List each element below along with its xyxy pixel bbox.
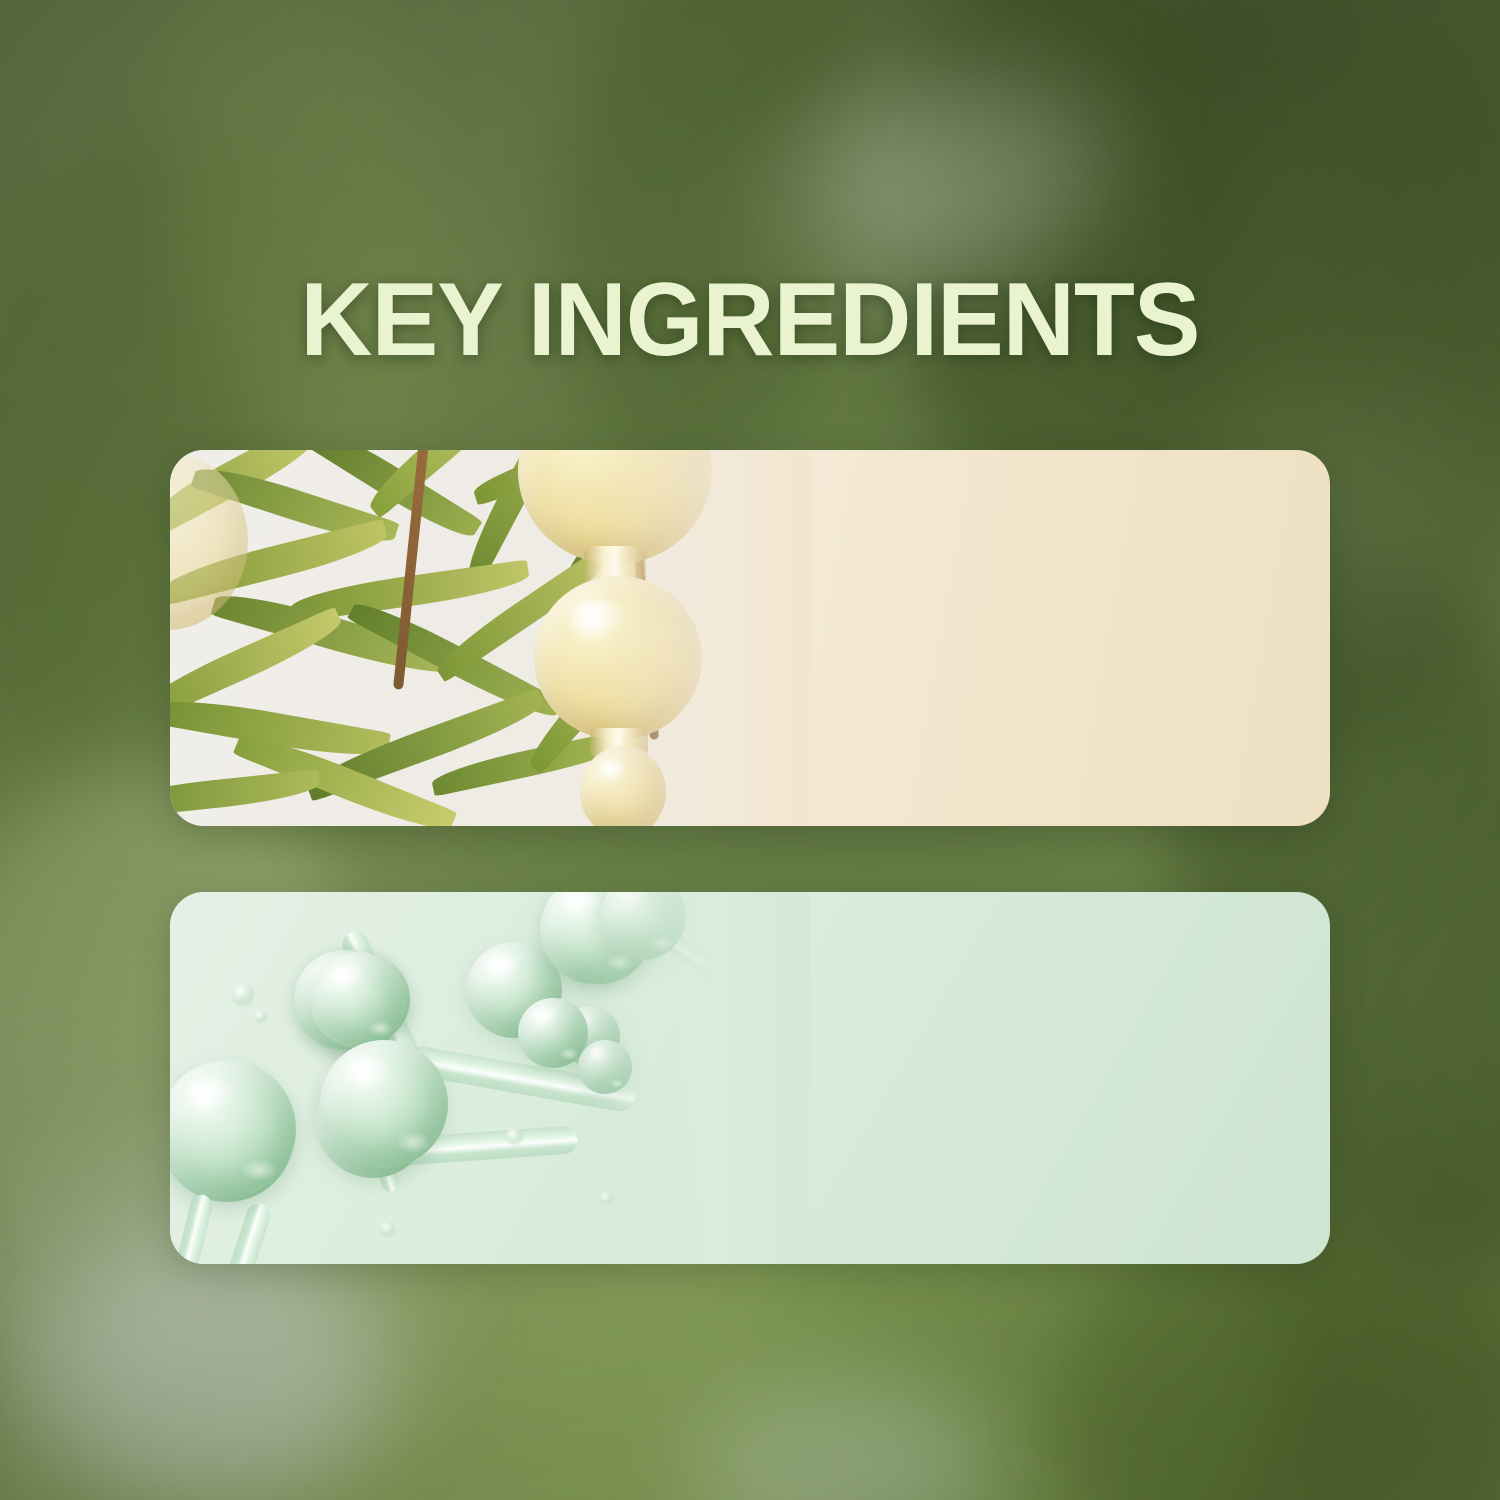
tea-tree-artwork	[170, 450, 810, 826]
molecule-sphere-main-lower-right	[320, 1040, 448, 1168]
molecule-bond	[204, 1200, 273, 1264]
molecule-micro-bubble	[380, 1222, 395, 1237]
ingredient-card-tea-tree: Tea Tree Leaf Extract Calms sensitive & …	[170, 450, 1330, 826]
ingredient-card-acids: AHA BHA PHA LHA Gently exfoliates & remo…	[170, 892, 1330, 1264]
page-title: KEY INGREDIENTS	[30, 268, 1470, 372]
molecule-micro-bubble	[232, 984, 254, 1006]
tea-tree-leaf	[170, 769, 321, 819]
molecule-sphere-main-upper	[310, 952, 406, 1048]
molecule-micro-bubble	[506, 1128, 523, 1145]
artwork-fade	[600, 450, 810, 826]
molecule-bond-tail	[170, 1192, 215, 1264]
molecule-artwork	[170, 892, 810, 1264]
molecule-micro-bubble	[254, 1010, 267, 1023]
molecule-sphere-main-right	[518, 998, 588, 1068]
artwork-fade	[580, 892, 810, 1264]
